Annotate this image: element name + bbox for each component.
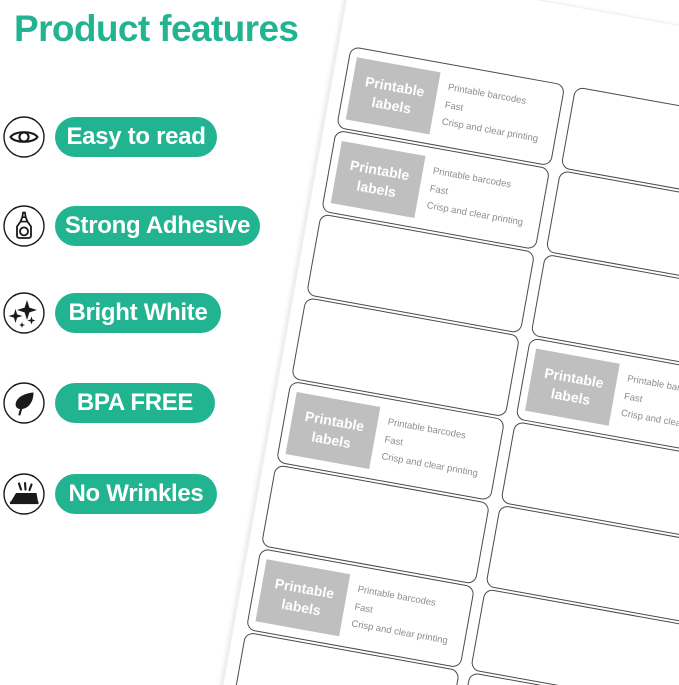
page-title: Product features xyxy=(14,10,298,47)
leaf-icon xyxy=(2,381,46,425)
eye-icon xyxy=(2,115,46,159)
feature-row: BPA FREE xyxy=(0,380,215,426)
feature-badge[interactable]: Easy to read xyxy=(55,117,217,157)
label-feature-lines: Printable barcodesFastCrisp and clear pr… xyxy=(440,79,556,150)
feature-badge[interactable]: Strong Adhesive xyxy=(55,206,260,246)
feature-badge[interactable]: BPA FREE xyxy=(55,383,215,423)
feature-badge[interactable]: Bright White xyxy=(55,293,221,333)
label-feature-lines: Printable barcodesFastCrisp and clear pr… xyxy=(350,581,466,652)
label-tile: Printablelabels xyxy=(331,141,426,218)
label-feature-lines: Printable barcodesFastCrisp and clear pr… xyxy=(619,371,679,442)
feature-row: Bright White xyxy=(0,290,221,336)
label-tile: Printablelabels xyxy=(525,349,620,426)
label-feature-lines: Printable barcodesFastCrisp and clear pr… xyxy=(425,163,541,234)
feature-badge[interactable]: No Wrinkles xyxy=(55,474,217,514)
glue-bottle-icon xyxy=(2,204,46,248)
feature-row: Strong Adhesive xyxy=(0,203,260,249)
label-tile: Printablelabels xyxy=(346,57,441,134)
features-panel: Product features Easy to read Strong Adh… xyxy=(0,0,300,685)
feature-row: Easy to read xyxy=(0,114,217,160)
sparkles-icon xyxy=(2,291,46,335)
label-feature-lines: Printable barcodesFastCrisp and clear pr… xyxy=(380,414,496,485)
feature-row: No Wrinkles xyxy=(0,471,217,517)
iron-icon xyxy=(2,472,46,516)
